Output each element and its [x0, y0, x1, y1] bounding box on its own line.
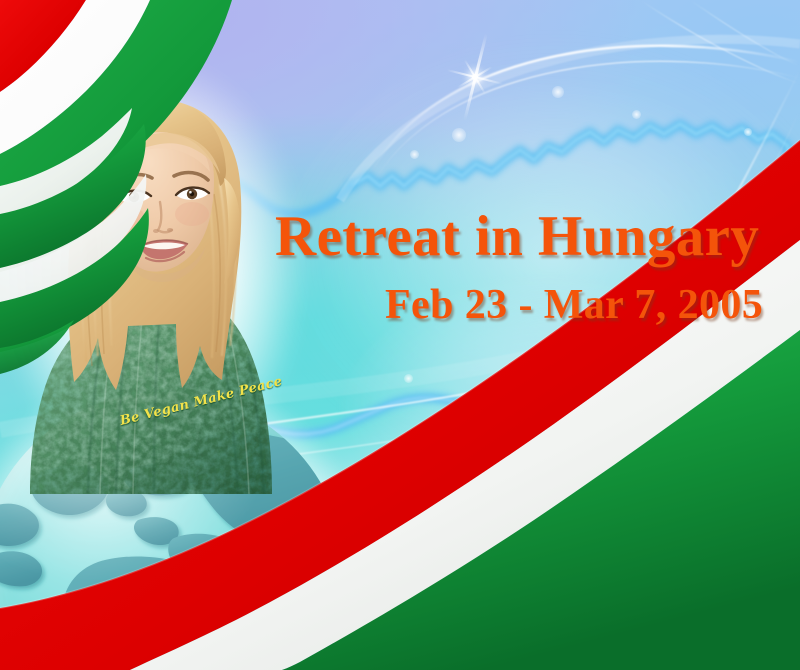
poster-canvas: Be Vegan Make Peace	[0, 0, 800, 670]
woman-portrait: Be Vegan Make Peace	[10, 74, 290, 494]
portrait-illustration	[10, 74, 290, 494]
page-title: Retreat in Hungary	[275, 208, 795, 266]
event-dates: Feb 23 - Mar 7, 2005	[385, 283, 800, 327]
